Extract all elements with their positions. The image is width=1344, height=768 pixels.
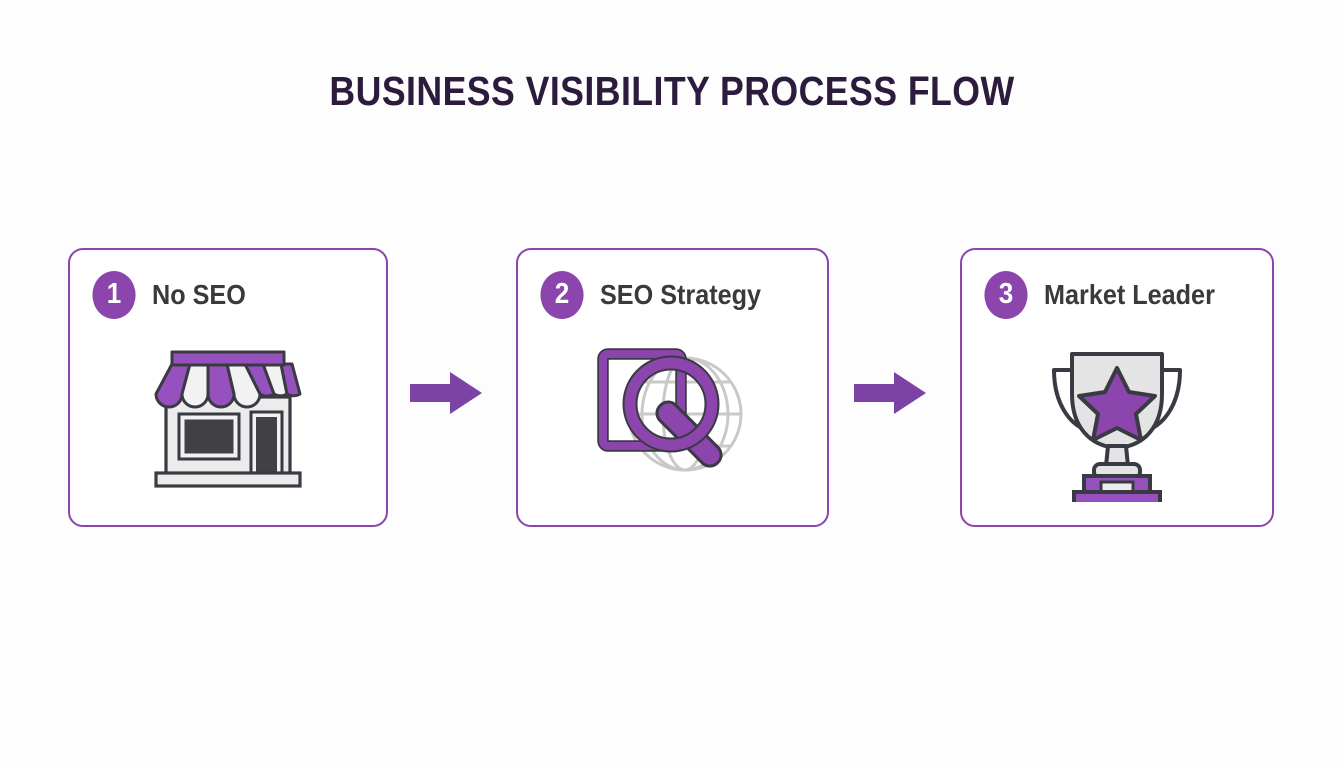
step-icon-container bbox=[962, 342, 1272, 502]
flow-connector-2 bbox=[854, 372, 926, 419]
process-step-card-2[interactable]: 2 SEO Strategy bbox=[516, 248, 829, 527]
step-number-badge: 3 bbox=[984, 271, 1027, 319]
step-label: No SEO bbox=[152, 279, 246, 311]
page-title: BUSINESS VISIBILITY PROCESS FLOW bbox=[87, 68, 1256, 115]
step-number-badge: 2 bbox=[540, 271, 583, 319]
globe-search-icon bbox=[593, 342, 753, 497]
step-label: SEO Strategy bbox=[600, 279, 761, 311]
step-icon-container bbox=[70, 342, 386, 492]
arrow-right-icon bbox=[410, 372, 482, 414]
step-number-badge: 1 bbox=[92, 271, 135, 319]
step-icon-container bbox=[518, 342, 827, 497]
storefront-icon bbox=[146, 342, 310, 492]
process-step-card-3[interactable]: 3 Market Leader bbox=[960, 248, 1274, 527]
step-label: Market Leader bbox=[1044, 279, 1215, 311]
trophy-icon bbox=[1042, 342, 1192, 502]
step-number: 1 bbox=[107, 280, 122, 309]
slide-canvas: BUSINESS VISIBILITY PROCESS FLOW 1 No SE… bbox=[0, 0, 1344, 768]
step-number: 3 bbox=[999, 280, 1014, 309]
step-number: 2 bbox=[555, 280, 570, 309]
process-step-card-1[interactable]: 1 No SEO bbox=[68, 248, 388, 527]
arrow-right-icon bbox=[854, 372, 926, 414]
step-header: 3 Market Leader bbox=[982, 271, 1234, 319]
step-header: 2 SEO Strategy bbox=[538, 271, 779, 319]
step-header: 1 No SEO bbox=[90, 271, 256, 319]
flow-connector-1 bbox=[410, 372, 482, 419]
